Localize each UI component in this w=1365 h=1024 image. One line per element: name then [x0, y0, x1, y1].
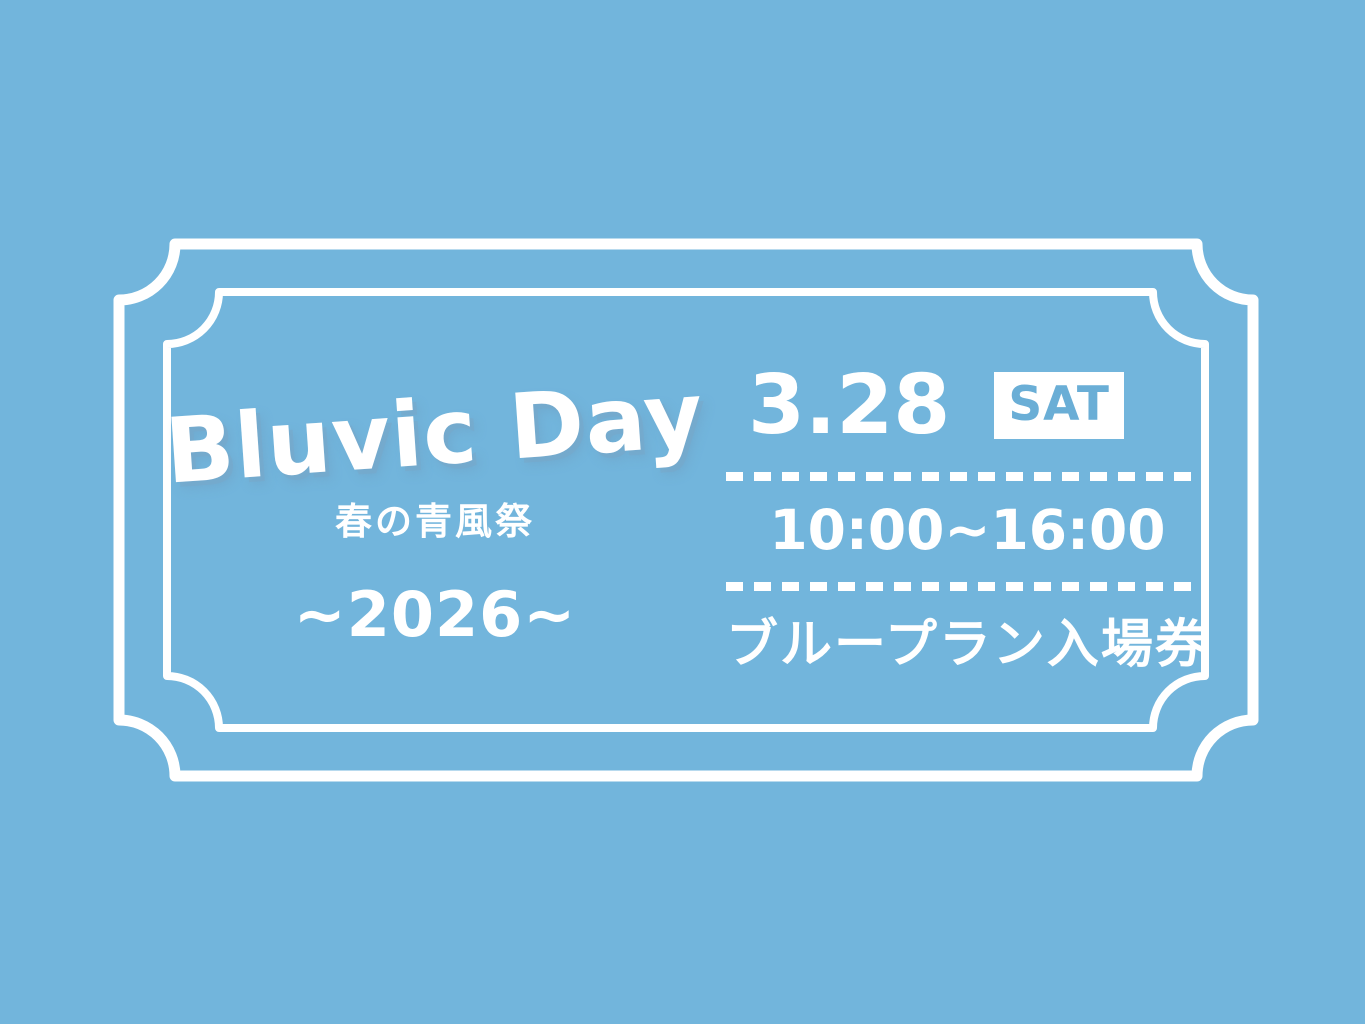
- ticket-content: Bluvic Day 春の青風祭 ~2026~ 3.28 SAT 10:00~1…: [170, 300, 1202, 720]
- ticket-poster: Bluvic Day 春の青風祭 ~2026~ 3.28 SAT 10:00~1…: [0, 0, 1365, 1024]
- ticket-right-panel: 3.28 SAT 10:00~16:00 ブループラン入場券: [700, 300, 1209, 720]
- ticket-left-panel: Bluvic Day 春の青風祭 ~2026~: [170, 300, 700, 720]
- event-subtitle: 春の青風祭: [335, 503, 535, 540]
- ticket-type-label: ブループラン入場券: [726, 601, 1209, 671]
- dashed-divider-bottom: [726, 582, 1209, 591]
- event-hours: 10:00~16:00: [726, 491, 1209, 572]
- event-date: 3.28: [748, 365, 950, 447]
- event-year: ~2026~: [294, 584, 576, 646]
- weekday-badge: SAT: [994, 372, 1124, 439]
- event-title: Bluvic Day: [163, 370, 707, 497]
- dashed-divider-top: [726, 472, 1209, 481]
- event-date-row: 3.28 SAT: [726, 350, 1209, 462]
